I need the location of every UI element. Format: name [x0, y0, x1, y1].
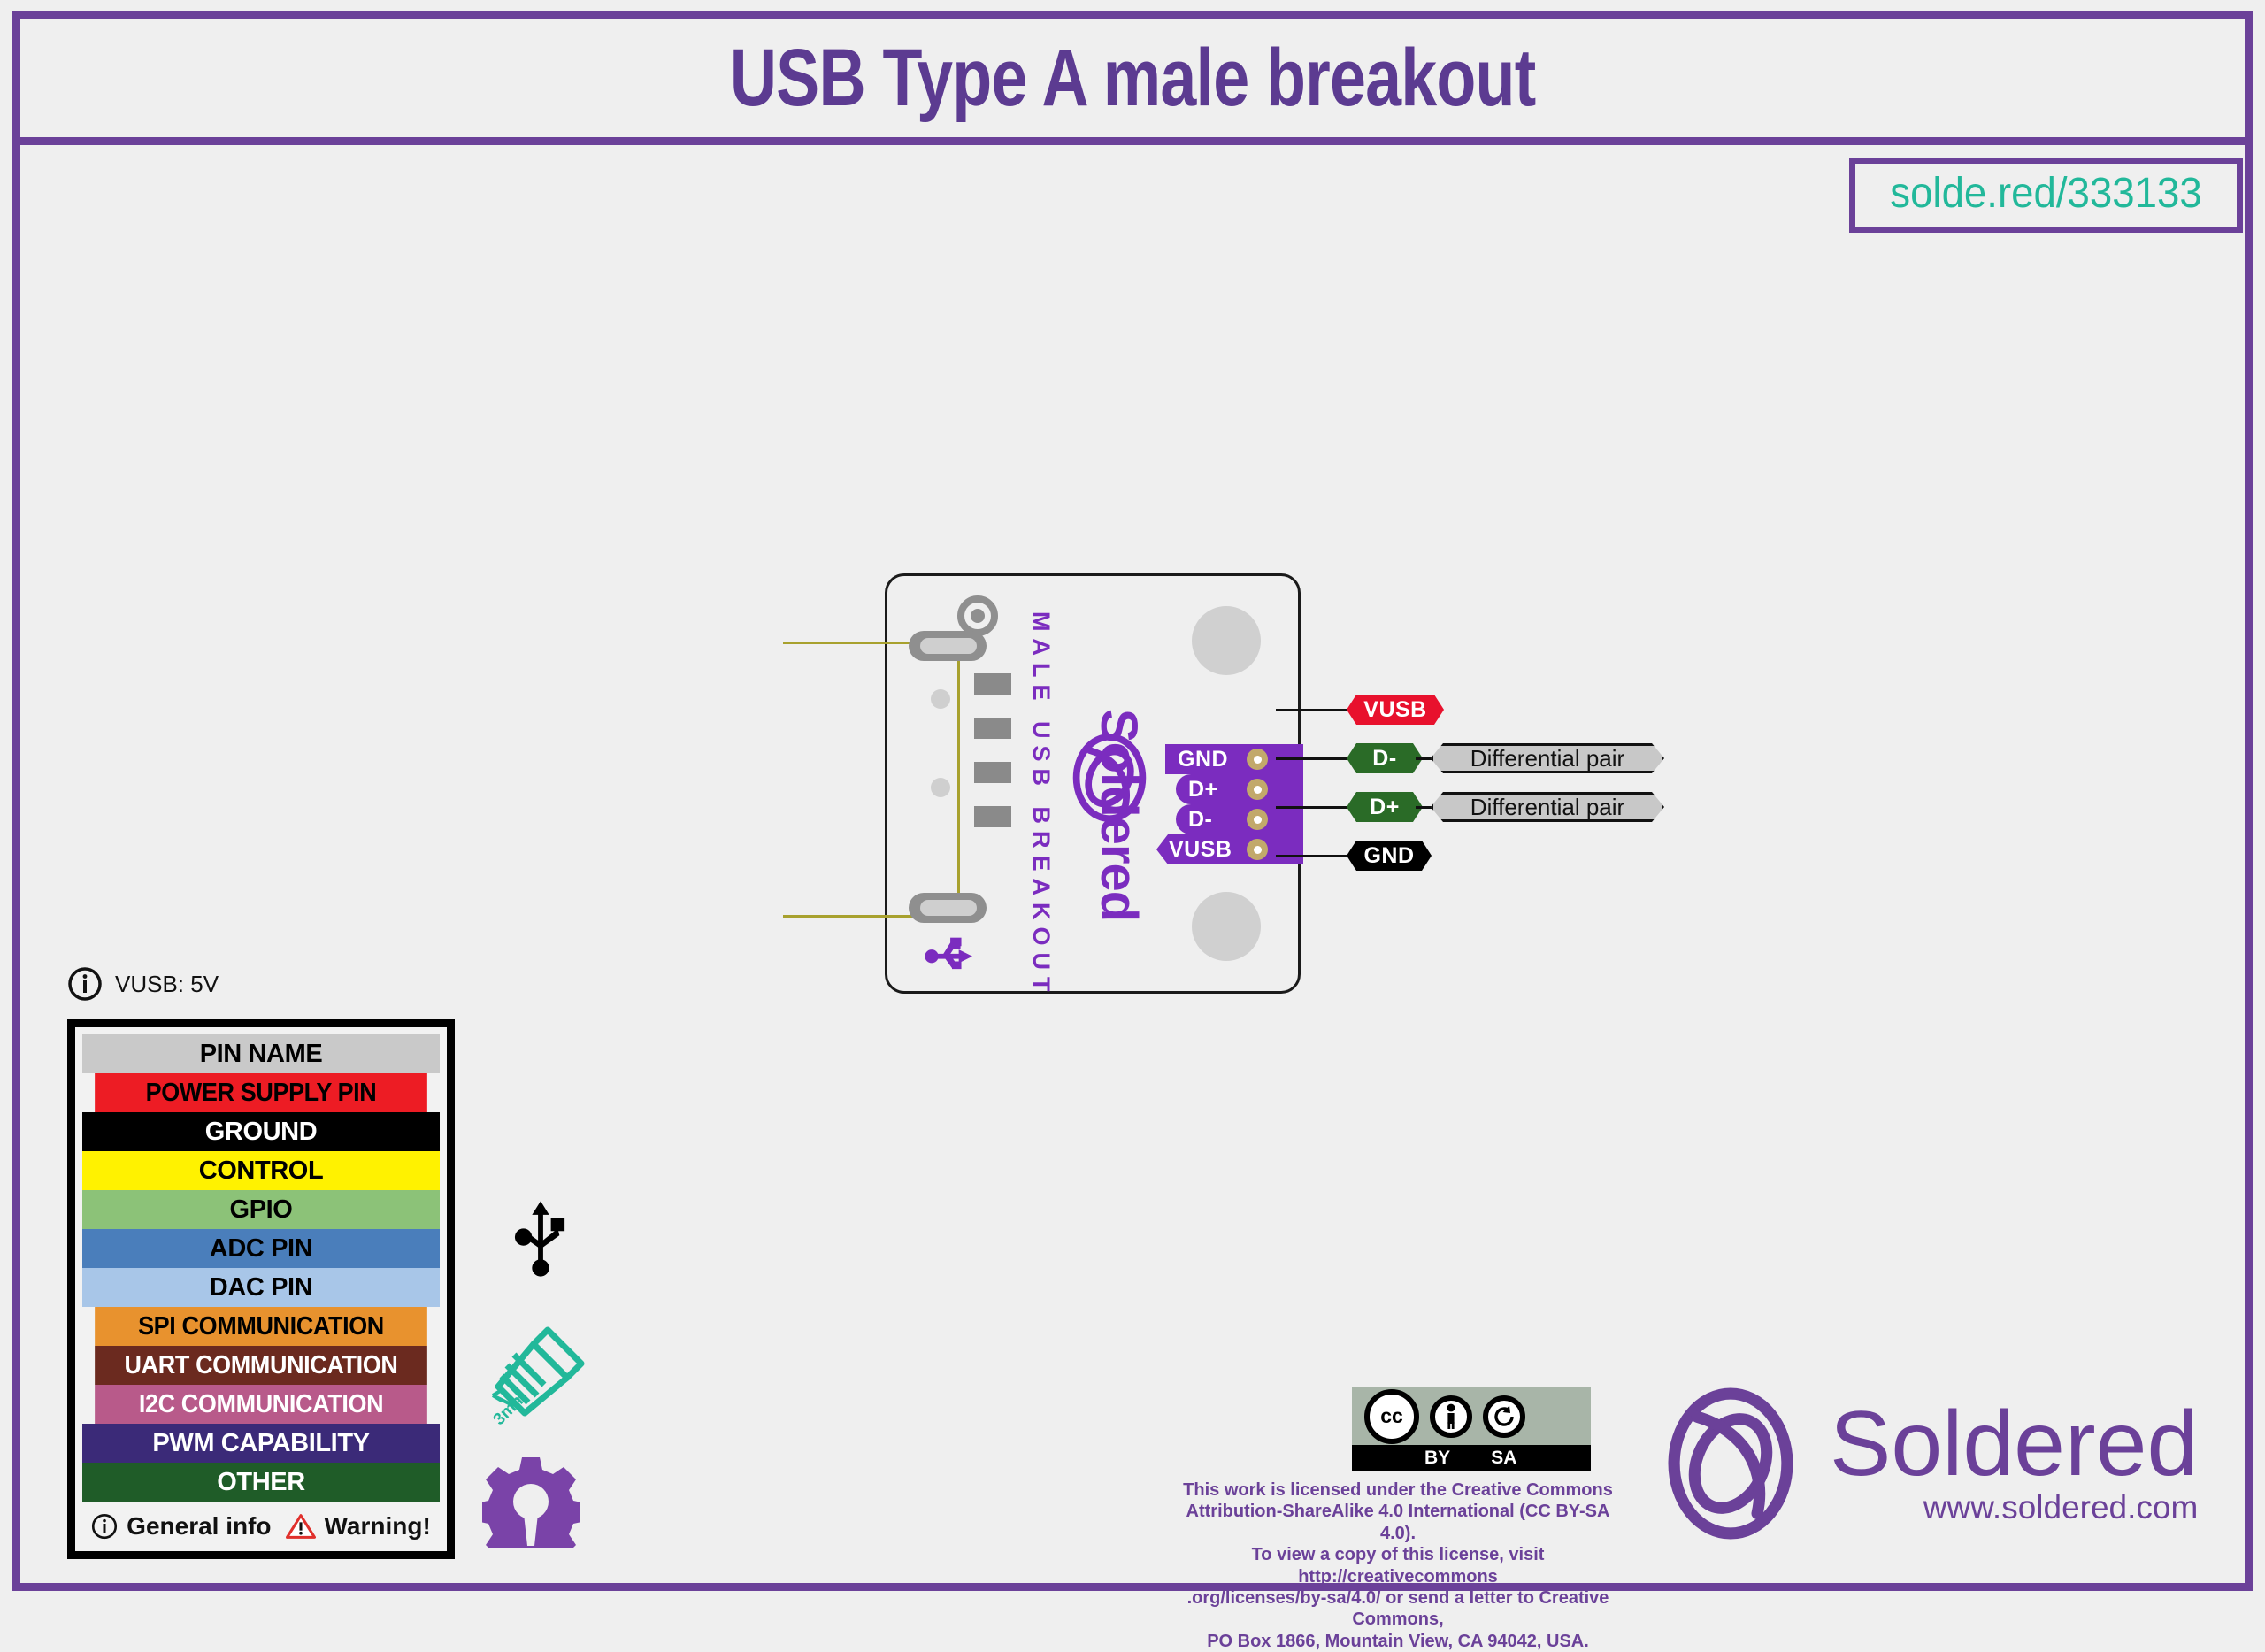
- legend-row: CONTROL: [82, 1151, 440, 1190]
- legend-row: GROUND: [82, 1112, 440, 1151]
- legend-row: POWER SUPPLY PIN: [95, 1073, 427, 1112]
- pin-pad-dminus: [1247, 809, 1268, 830]
- screw-3mm-icon: 3mm: [482, 1314, 597, 1429]
- leader-line-gnd: [1276, 709, 1350, 711]
- legend-row: OTHER: [82, 1463, 440, 1502]
- pin-bar-vusb[interactable]: VUSB: [1156, 834, 1303, 864]
- legend-info-item: General info: [91, 1512, 271, 1541]
- soldered-logo-icon: [1647, 1380, 1814, 1547]
- usb-shield-tab-top: [909, 631, 987, 661]
- board-wordmark: Soldered: [1089, 709, 1148, 921]
- legend-row: SPI COMMUNICATION: [95, 1307, 427, 1346]
- brand-url: www.soldered.com: [1923, 1489, 2199, 1526]
- cc-badge-labels: BY SA: [1352, 1445, 1591, 1471]
- legend-rows: POWER SUPPLY PINGROUNDCONTROLGPIOADC PIN…: [82, 1073, 440, 1502]
- vusb-note-text: VUSB: 5V: [115, 971, 219, 998]
- footer-brand-logo: Soldered www.soldered.com: [1647, 1380, 2198, 1547]
- pin-label-dplus: D+: [1188, 777, 1218, 803]
- legend-info-label: General info: [127, 1512, 271, 1541]
- cc-icon: cc: [1364, 1389, 1419, 1444]
- info-icon: [91, 1513, 118, 1540]
- callout-dminus: D-: [1347, 743, 1423, 773]
- cc-badge-icons: cc: [1352, 1387, 1591, 1445]
- pin-pad-vusb: [1247, 839, 1268, 860]
- usb-icon: [513, 1199, 568, 1279]
- license-line: To view a copy of this license, visit ht…: [1252, 1545, 1545, 1586]
- legend-footer: General info Warning!: [82, 1502, 440, 1551]
- warning-icon: [286, 1513, 316, 1540]
- callout-gnd: GND: [1347, 841, 1432, 871]
- silkscreen-label: MALE USB BREAKOUT: [1027, 611, 1055, 965]
- pin-bar-dplus[interactable]: D+: [1176, 774, 1303, 804]
- usb-contact-pad-2: [974, 718, 1011, 739]
- legend-warning-item: Warning!: [286, 1512, 431, 1541]
- url-badge-text: solde.red/333133: [1890, 169, 2201, 218]
- pin-label-dminus: D-: [1188, 807, 1212, 833]
- cc-sa-label: SA: [1491, 1448, 1516, 1469]
- open-source-hardware-gear-icon: [482, 1456, 580, 1548]
- leader-line-dminus: [1276, 806, 1350, 809]
- vusb-info-note: VUSB: 5V: [67, 966, 219, 1002]
- page-title: USB Type A male breakout: [730, 32, 1536, 125]
- usb-shield-tab-bottom: [909, 893, 987, 923]
- license-line: Attribution-ShareAlike 4.0 International…: [1186, 1502, 1610, 1542]
- mounting-hole-bottom-right: [1192, 892, 1261, 961]
- board-graphic: MALE USB BREAKOUT Soldered GND D+ D-: [885, 573, 1301, 994]
- usb-contact-pad-4: [974, 806, 1011, 827]
- url-badge[interactable]: solde.red/333133: [1849, 158, 2243, 233]
- license-line: .org/licenses/by-sa/4.0/ or send a lette…: [1187, 1588, 1609, 1629]
- usb-contact-pad-1: [974, 673, 1011, 695]
- diffpair-note-1: Differential pair: [1431, 743, 1664, 773]
- callout-dplus: D+: [1347, 792, 1423, 822]
- legend-row: ADC PIN: [82, 1229, 440, 1268]
- pin-bar-dminus[interactable]: D-: [1176, 804, 1303, 834]
- diffpair-note-2: Differential pair: [1431, 792, 1664, 822]
- brand-name: Soldered: [1830, 1401, 2198, 1488]
- info-icon: [67, 966, 103, 1002]
- cc-by-icon: [1430, 1395, 1472, 1438]
- leader-line-vusb: [1276, 855, 1350, 857]
- pin-pad-dplus: [1247, 779, 1268, 800]
- pin-label-gnd: GND: [1178, 747, 1228, 772]
- board-via-2: [931, 778, 950, 797]
- cc-sa-icon: [1483, 1395, 1525, 1438]
- brand-text-block: Soldered www.soldered.com: [1830, 1401, 2198, 1527]
- legend-row: PWM CAPABILITY: [82, 1424, 440, 1463]
- cc-license-badge: cc BY SA: [1352, 1387, 1591, 1471]
- legend-row: GPIO: [82, 1190, 440, 1229]
- callout-vusb: VUSB: [1347, 695, 1444, 725]
- legend-header: PIN NAME: [82, 1034, 440, 1073]
- pin-pad-gnd: [1247, 749, 1268, 770]
- legend-row: I2C COMMUNICATION: [95, 1385, 427, 1424]
- title-bar: USB Type A male breakout: [12, 11, 2253, 145]
- legend-warning-label: Warning!: [325, 1512, 431, 1541]
- pin-label-vusb: VUSB: [1169, 837, 1232, 863]
- legend-row: DAC PIN: [82, 1268, 440, 1307]
- legend-row: UART COMMUNICATION: [95, 1346, 427, 1385]
- usb-icon: [925, 931, 979, 972]
- usb-contact-pad-3: [974, 762, 1011, 783]
- cc-by-label: BY: [1424, 1448, 1450, 1469]
- leader-line-dplus: [1276, 757, 1350, 760]
- license-text: This work is licensed under the Creative…: [1177, 1479, 1619, 1652]
- mounting-hole-top-right: [1192, 606, 1261, 675]
- board-via-1: [931, 689, 950, 709]
- license-line: PO Box 1866, Mountain View, CA 94042, US…: [1207, 1632, 1589, 1651]
- pin-legend: PIN NAME POWER SUPPLY PINGROUNDCONTROLGP…: [67, 1019, 455, 1559]
- license-line: This work is licensed under the Creative…: [1183, 1480, 1613, 1500]
